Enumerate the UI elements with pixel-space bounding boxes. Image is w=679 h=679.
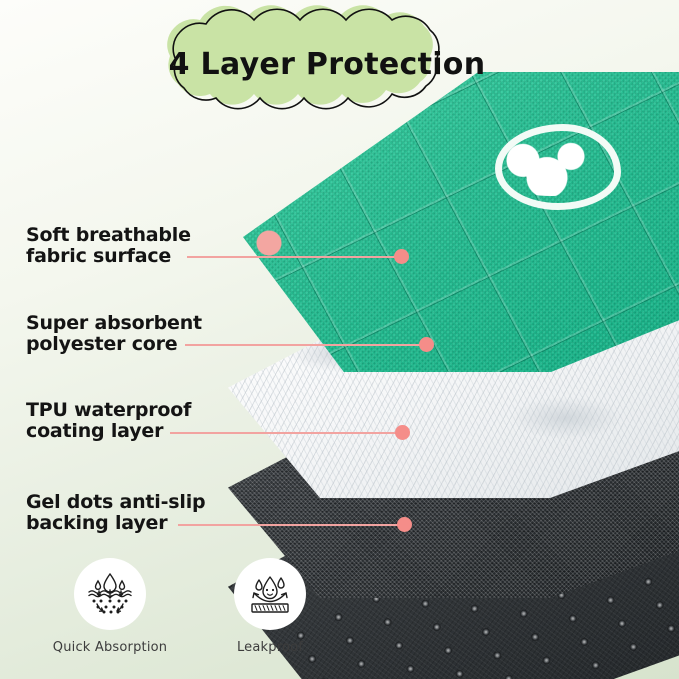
- leakproof-icon-circle: [234, 558, 306, 630]
- feature-quick-absorption: Quick Absorption: [40, 558, 180, 655]
- leakproof-shield-drop-icon: [244, 568, 296, 620]
- feature-quick-absorption-label: Quick Absorption: [40, 640, 180, 655]
- feature-leakproof: Leakproof: [200, 558, 340, 655]
- callout-gel-line: [178, 524, 404, 526]
- infographic-canvas: 4 Layer Protection Soft breathable: [0, 0, 679, 679]
- feature-leakproof-label: Leakproof: [200, 640, 340, 655]
- water-drop-absorption-icon: [84, 568, 136, 620]
- quick-absorption-icon-circle: [74, 558, 146, 630]
- callout-gel-label: Gel dots anti-slip backing layer: [26, 492, 205, 534]
- feature-row: Quick Absorption: [40, 558, 340, 668]
- callout-gel-dot: [397, 517, 412, 532]
